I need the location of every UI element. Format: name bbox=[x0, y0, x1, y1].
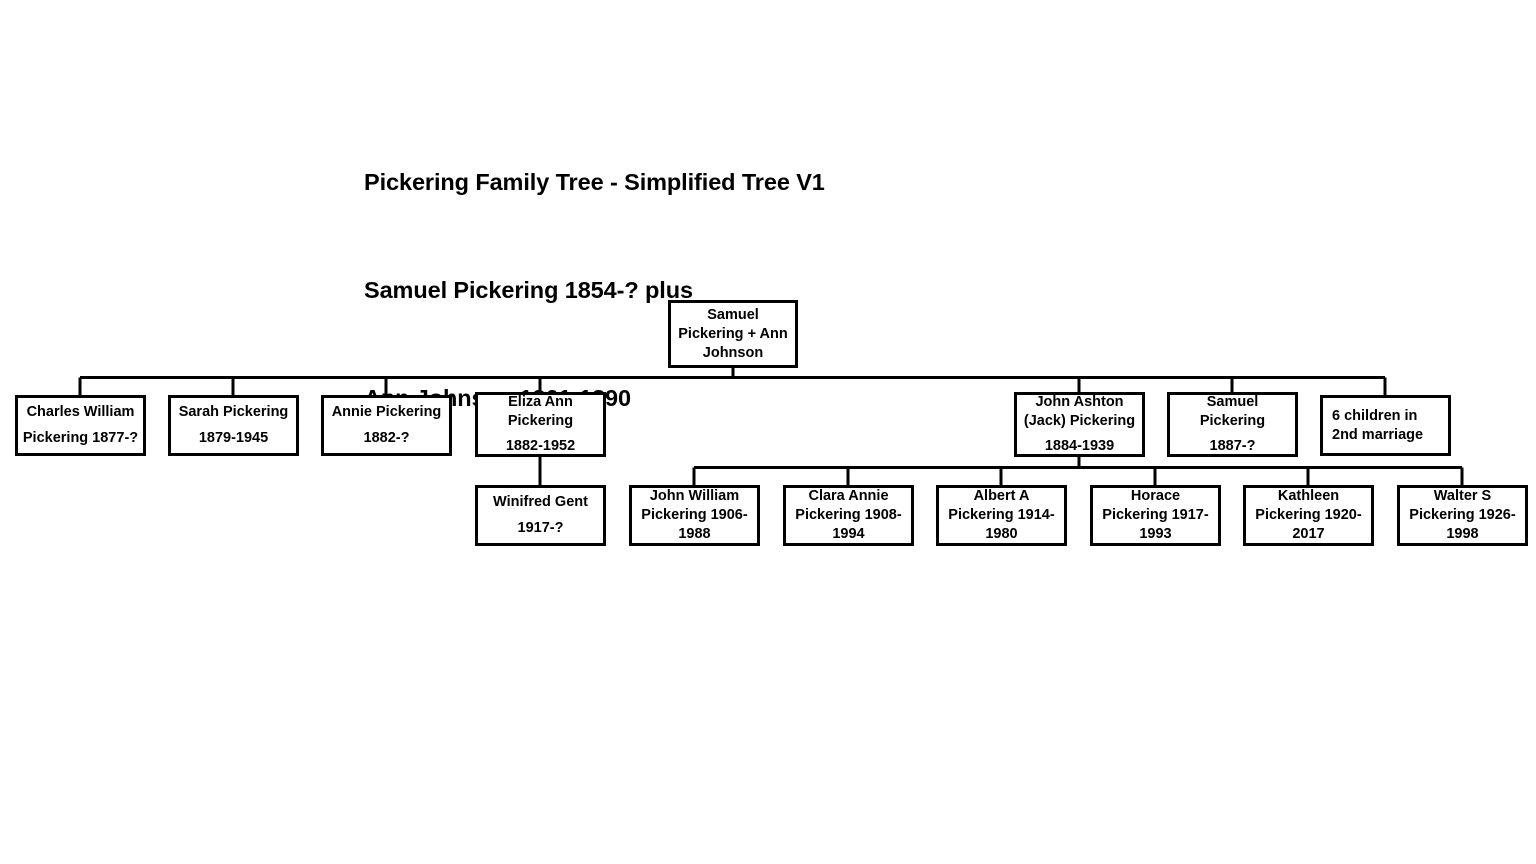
node-line: Winifred Gent bbox=[493, 493, 588, 512]
node-john-ashton-jack-pickering[interactable]: John Ashton (Jack) Pickering 1884-1939 bbox=[1014, 392, 1145, 457]
node-eliza-ann-pickering[interactable]: Eliza Ann Pickering 1882-1952 bbox=[475, 392, 606, 457]
node-line: Johnson bbox=[703, 344, 763, 363]
node-line: 2017 bbox=[1292, 525, 1324, 544]
node-john-william-pickering[interactable]: John William Pickering 1906- 1988 bbox=[629, 485, 760, 546]
node-samuel-pickering-ann-johnson[interactable]: Samuel Pickering + Ann Johnson bbox=[668, 300, 798, 368]
node-annie-pickering[interactable]: Annie Pickering 1882-? bbox=[321, 395, 452, 456]
node-line: 1879-1945 bbox=[199, 429, 268, 448]
node-line: Pickering bbox=[508, 412, 573, 431]
node-walter-s-pickering[interactable]: Walter S Pickering 1926- 1998 bbox=[1397, 485, 1528, 546]
node-line: Horace bbox=[1131, 487, 1180, 506]
node-sarah-pickering[interactable]: Sarah Pickering 1879-1945 bbox=[168, 395, 299, 456]
family-tree-canvas: Pickering Family Tree - Simplified Tree … bbox=[0, 0, 1536, 864]
node-line: Samuel bbox=[707, 306, 759, 325]
node-line: 1993 bbox=[1139, 525, 1171, 544]
node-line: 1884-1939 bbox=[1045, 437, 1114, 456]
node-six-children-second-marriage[interactable]: 6 children in 2nd marriage bbox=[1320, 395, 1451, 456]
node-line: 1998 bbox=[1446, 525, 1478, 544]
node-line: 6 children in bbox=[1332, 407, 1417, 426]
node-line: Pickering 1914- bbox=[948, 506, 1054, 525]
node-line: John William bbox=[650, 487, 739, 506]
node-line: 1988 bbox=[678, 525, 710, 544]
node-horace-pickering[interactable]: Horace Pickering 1917- 1993 bbox=[1090, 485, 1221, 546]
node-line: 1887-? bbox=[1210, 437, 1256, 456]
node-line: Pickering 1906- bbox=[641, 506, 747, 525]
node-line: Walter S bbox=[1434, 487, 1491, 506]
node-line: 1994 bbox=[832, 525, 864, 544]
node-line: (Jack) Pickering bbox=[1024, 412, 1135, 431]
node-line: 1882-? bbox=[364, 429, 410, 448]
node-line: Clara Annie bbox=[808, 487, 888, 506]
node-line: Annie Pickering bbox=[332, 403, 442, 422]
node-line: 1980 bbox=[985, 525, 1017, 544]
node-line: 1882-1952 bbox=[506, 437, 575, 456]
node-line: Samuel bbox=[1207, 393, 1259, 412]
node-line: Kathleen bbox=[1278, 487, 1339, 506]
node-kathleen-pickering[interactable]: Kathleen Pickering 1920- 2017 bbox=[1243, 485, 1374, 546]
node-line: Eliza Ann bbox=[508, 393, 573, 412]
node-line: Pickering bbox=[1200, 412, 1265, 431]
node-samuel-pickering-jr[interactable]: Samuel Pickering 1887-? bbox=[1167, 392, 1298, 457]
node-line: John Ashton bbox=[1035, 393, 1123, 412]
node-charles-william-pickering[interactable]: Charles William Pickering 1877-? bbox=[15, 395, 146, 456]
node-line: 2nd marriage bbox=[1332, 426, 1423, 445]
node-line: Pickering 1926- bbox=[1409, 506, 1515, 525]
node-line: Pickering 1920- bbox=[1255, 506, 1361, 525]
node-albert-a-pickering[interactable]: Albert A Pickering 1914- 1980 bbox=[936, 485, 1067, 546]
node-line: Charles William bbox=[27, 403, 135, 422]
node-line: 1917-? bbox=[518, 519, 564, 538]
node-line: Pickering 1877-? bbox=[23, 429, 138, 448]
page-title-line-1: Pickering Family Tree - Simplified Tree … bbox=[364, 164, 825, 200]
node-line: Pickering 1917- bbox=[1102, 506, 1208, 525]
node-line: Pickering 1908- bbox=[795, 506, 901, 525]
node-line: Albert A bbox=[974, 487, 1030, 506]
node-line: Sarah Pickering bbox=[179, 403, 289, 422]
node-clara-annie-pickering[interactable]: Clara Annie Pickering 1908- 1994 bbox=[783, 485, 914, 546]
node-winifred-gent[interactable]: Winifred Gent 1917-? bbox=[475, 485, 606, 546]
node-line: Pickering + Ann bbox=[678, 325, 787, 344]
